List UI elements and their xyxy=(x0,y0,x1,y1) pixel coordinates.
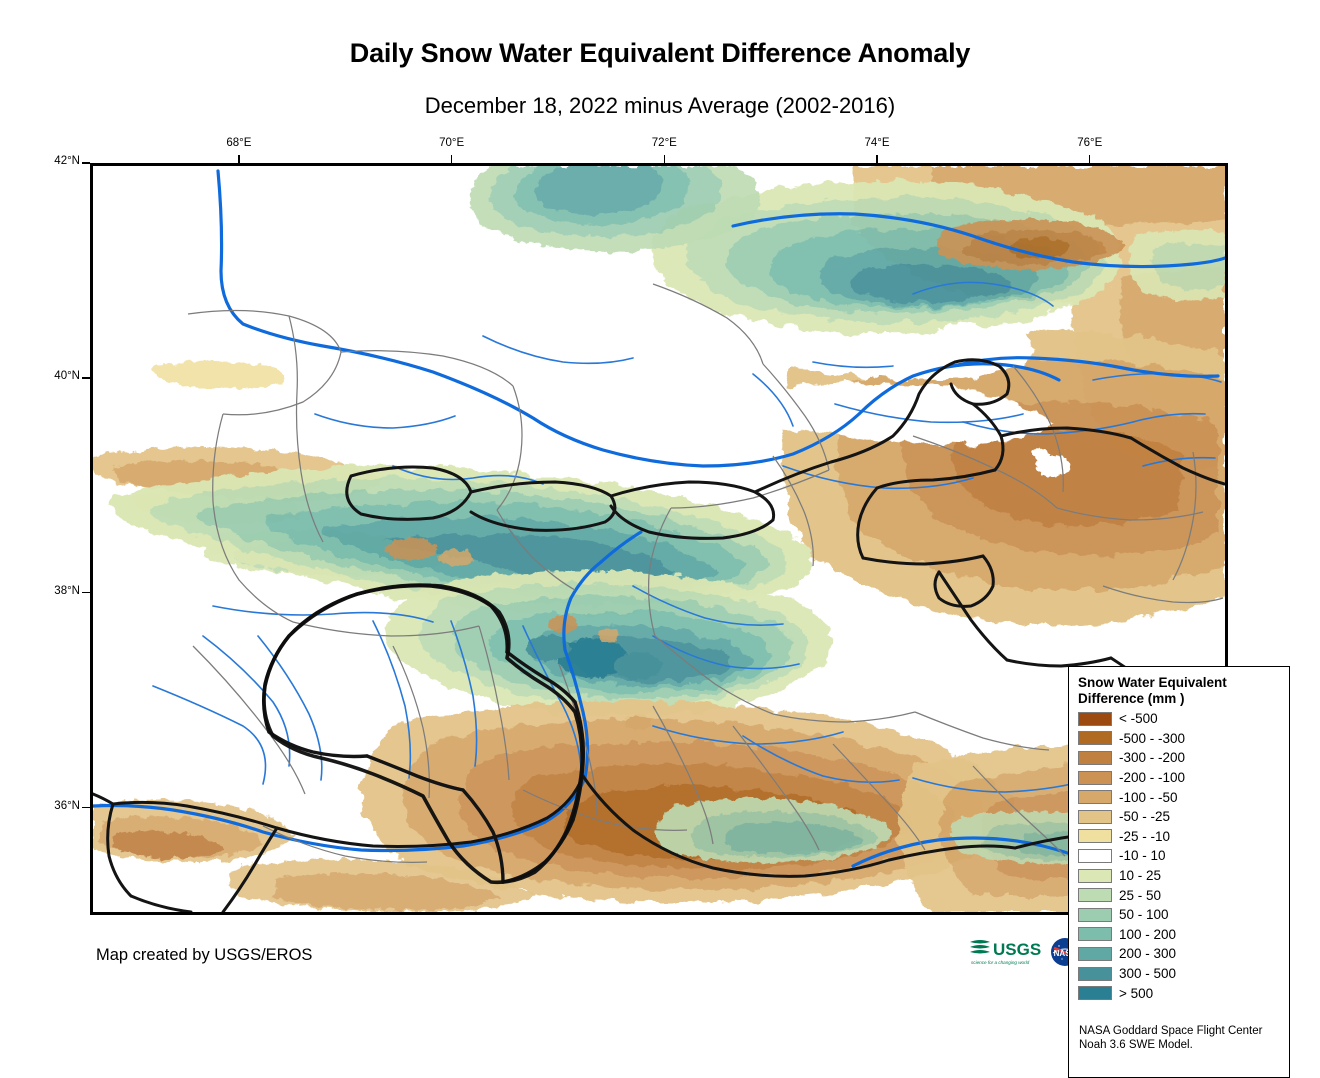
legend-swatch xyxy=(1078,790,1112,804)
latitude-tick-label: 36°N xyxy=(42,800,80,812)
legend-swatch xyxy=(1078,967,1112,981)
legend-swatch xyxy=(1078,712,1112,726)
legend-swatch xyxy=(1078,810,1112,824)
legend-row[interactable]: > 500 xyxy=(1078,983,1284,1003)
legend-row[interactable]: -500 - -300 xyxy=(1078,729,1284,749)
legend-row[interactable]: < -500 xyxy=(1078,709,1284,729)
legend-row[interactable]: -300 - -200 xyxy=(1078,748,1284,768)
page-subtitle: December 18, 2022 minus Average (2002-20… xyxy=(0,93,1320,119)
latitude-tick-mark xyxy=(82,592,90,594)
usgs-wave-mark xyxy=(970,940,990,954)
legend-row[interactable]: -50 - -25 xyxy=(1078,807,1284,827)
legend-label: 50 - 100 xyxy=(1119,907,1169,922)
legend-swatch xyxy=(1078,829,1112,843)
latitude-tick-label: 40°N xyxy=(42,370,80,382)
legend-label: -50 - -25 xyxy=(1119,809,1170,824)
svg-text:USGS: USGS xyxy=(993,940,1041,959)
legend-label: > 500 xyxy=(1119,986,1153,1001)
longitude-tick-label: 72°E xyxy=(647,137,681,149)
legend-row[interactable]: 200 - 300 xyxy=(1078,944,1284,964)
longitude-tick-label: 74°E xyxy=(860,137,894,149)
legend-label: -500 - -300 xyxy=(1119,731,1185,746)
legend-label: 200 - 300 xyxy=(1119,946,1176,961)
legend-swatch xyxy=(1078,731,1112,745)
legend-label: -100 - -50 xyxy=(1119,790,1178,805)
legend-row[interactable]: 50 - 100 xyxy=(1078,905,1284,925)
longitude-tick-mark xyxy=(238,155,240,163)
latitude-tick-mark xyxy=(82,807,90,809)
legend-label: 300 - 500 xyxy=(1119,966,1176,981)
legend-swatch xyxy=(1078,986,1112,1000)
usgs-logo[interactable]: USGS science for a changing world xyxy=(968,935,1044,969)
legend-label: < -500 xyxy=(1119,711,1158,726)
legend-swatch xyxy=(1078,869,1112,883)
legend-row[interactable]: -10 - 10 xyxy=(1078,846,1284,866)
legend-row[interactable]: 300 - 500 xyxy=(1078,964,1284,984)
longitude-tick-label: 70°E xyxy=(435,137,469,149)
legend-swatch xyxy=(1078,771,1112,785)
legend-row[interactable]: -25 - -10 xyxy=(1078,827,1284,847)
legend-swatch xyxy=(1078,947,1112,961)
svg-text:science for a changing world: science for a changing world xyxy=(971,960,1030,965)
legend-source-note: NASA Goddard Space Flight Center Noah 3.… xyxy=(1079,1025,1283,1052)
legend-swatch xyxy=(1078,908,1112,922)
latitude-tick-mark xyxy=(82,377,90,379)
legend-row[interactable]: -100 - -50 xyxy=(1078,787,1284,807)
longitude-tick-label: 68°E xyxy=(222,137,256,149)
legend-label: -200 - -100 xyxy=(1119,770,1185,785)
legend-swatch xyxy=(1078,849,1112,863)
longitude-tick-mark xyxy=(1089,155,1091,163)
longitude-tick-mark xyxy=(451,155,453,163)
legend-label: 100 - 200 xyxy=(1119,927,1176,942)
longitude-tick-mark xyxy=(664,155,666,163)
map-legend[interactable]: Snow Water Equivalent Difference (mm ) <… xyxy=(1068,666,1290,1078)
legend-class-list: < -500-500 - -300-300 - -200-200 - -100-… xyxy=(1078,709,1284,1003)
legend-label: -10 - 10 xyxy=(1119,848,1166,863)
latitude-tick-mark xyxy=(82,162,90,164)
legend-row[interactable]: 10 - 25 xyxy=(1078,866,1284,886)
map-credit: Map created by USGS/EROS xyxy=(96,946,312,965)
legend-swatch xyxy=(1078,927,1112,941)
legend-note-line2: Noah 3.6 SWE Model. xyxy=(1079,1039,1283,1053)
latitude-tick-label: 38°N xyxy=(42,585,80,597)
legend-label: -300 - -200 xyxy=(1119,750,1185,765)
legend-title-line1: Snow Water Equivalent xyxy=(1078,675,1283,691)
legend-row[interactable]: 100 - 200 xyxy=(1078,925,1284,945)
longitude-tick-label: 76°E xyxy=(1073,137,1107,149)
map-frame xyxy=(90,163,1228,915)
legend-row[interactable]: 25 - 50 xyxy=(1078,885,1284,905)
legend-title: Snow Water Equivalent Difference (mm ) xyxy=(1078,675,1283,707)
latitude-tick-label: 42°N xyxy=(42,155,80,167)
legend-label: -25 - -10 xyxy=(1119,829,1170,844)
legend-title-line2: Difference (mm ) xyxy=(1078,691,1283,707)
map-area[interactable]: 68°E70°E72°E74°E76°E 42°N40°N38°N36°N Sn… xyxy=(90,163,1228,915)
legend-swatch xyxy=(1078,888,1112,902)
page-title: Daily Snow Water Equivalent Difference A… xyxy=(0,38,1320,69)
legend-label: 10 - 25 xyxy=(1119,868,1161,883)
legend-swatch xyxy=(1078,751,1112,765)
legend-row[interactable]: -200 - -100 xyxy=(1078,768,1284,788)
legend-note-line1: NASA Goddard Space Flight Center xyxy=(1079,1025,1283,1039)
longitude-tick-mark xyxy=(876,155,878,163)
legend-label: 25 - 50 xyxy=(1119,888,1161,903)
